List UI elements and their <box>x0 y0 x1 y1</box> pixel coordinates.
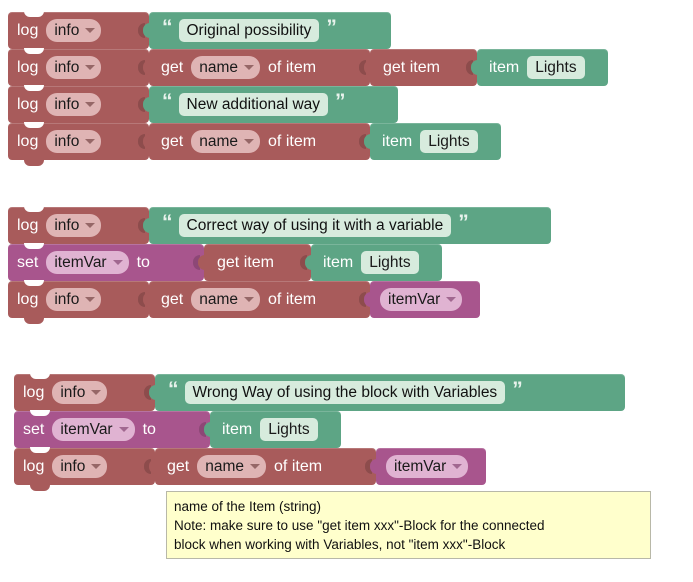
get-property-of-item-block[interactable]: get name of item <box>149 49 370 86</box>
log-block[interactable]: log info <box>8 281 149 318</box>
get-item-label: get item <box>204 254 279 272</box>
get-label: get <box>149 59 188 77</box>
text-string-block[interactable]: “ New additional way ” <box>149 86 398 123</box>
get-item-block[interactable]: get item <box>370 49 477 86</box>
log-label: log <box>8 59 43 77</box>
of-item-label: of item <box>263 133 321 151</box>
item-block[interactable]: item Lights <box>370 123 501 160</box>
property-dropdown[interactable]: name <box>191 56 260 79</box>
get-property-of-item-block[interactable]: get name of item <box>155 448 376 485</box>
get-property-of-item-block[interactable]: get name of item <box>149 123 370 160</box>
variable-getter-block[interactable]: itemVar <box>370 281 480 318</box>
log-level-value: info <box>60 458 85 476</box>
of-item-label: of item <box>269 458 327 476</box>
item-block[interactable]: item Lights <box>311 244 442 281</box>
log-block[interactable]: log info <box>8 207 149 244</box>
log-level-value: info <box>54 22 79 40</box>
item-name-field[interactable]: Lights <box>420 130 477 153</box>
item-label: item <box>311 254 358 272</box>
item-name-field[interactable]: Lights <box>361 251 418 274</box>
get-item-label: get item <box>370 59 445 77</box>
log-level-dropdown[interactable]: info <box>52 455 107 478</box>
text-string-block[interactable]: “ Original possibility ” <box>149 12 391 49</box>
get-label: get <box>155 458 194 476</box>
text-field[interactable]: Original possibility <box>179 19 320 42</box>
log-level-value: info <box>60 384 85 402</box>
chevron-down-icon <box>119 427 129 432</box>
quote-open-icon: “ <box>158 212 176 233</box>
log-level-dropdown[interactable]: info <box>46 19 101 42</box>
chevron-down-icon <box>85 139 95 144</box>
log-block[interactable]: log info <box>8 123 149 160</box>
quote-open-icon: “ <box>158 17 176 38</box>
chevron-down-icon <box>113 260 123 265</box>
log-block[interactable]: log info <box>14 448 155 485</box>
to-label: to <box>132 254 155 272</box>
variable-dropdown[interactable]: itemVar <box>52 418 134 441</box>
log-label: log <box>14 384 49 402</box>
item-name-field[interactable]: Lights <box>260 418 317 441</box>
set-label: set <box>8 254 43 272</box>
variable-getter-block[interactable]: itemVar <box>376 448 486 485</box>
chevron-down-icon <box>452 464 462 469</box>
variable-dropdown[interactable]: itemVar <box>46 251 128 274</box>
log-label: log <box>8 217 43 235</box>
item-block[interactable]: item Lights <box>477 49 608 86</box>
set-label: set <box>14 421 49 439</box>
log-label: log <box>14 458 49 476</box>
log-block[interactable]: log info <box>14 374 155 411</box>
get-item-block[interactable]: get item <box>204 244 311 281</box>
log-level-dropdown[interactable]: info <box>46 56 101 79</box>
item-label: item <box>210 421 257 439</box>
property-dropdown[interactable]: name <box>191 288 260 311</box>
chevron-down-icon <box>85 223 95 228</box>
property-value: name <box>205 458 244 476</box>
log-level-value: info <box>54 217 79 235</box>
log-level-dropdown[interactable]: info <box>46 288 101 311</box>
chevron-down-icon <box>250 464 260 469</box>
set-variable-block[interactable]: set itemVar to <box>8 244 204 281</box>
tooltip-line-1: name of the Item (string) <box>174 497 643 516</box>
chevron-down-icon <box>85 102 95 107</box>
quote-close-icon: ” <box>508 379 526 400</box>
log-label: log <box>8 22 43 40</box>
log-level-value: info <box>54 96 79 114</box>
item-block[interactable]: item Lights <box>210 411 341 448</box>
quote-open-icon: “ <box>158 91 176 112</box>
log-level-value: info <box>54 291 79 309</box>
chevron-down-icon <box>244 297 254 302</box>
log-block[interactable]: log info <box>8 86 149 123</box>
item-label: item <box>477 59 524 77</box>
item-name-field[interactable]: Lights <box>527 56 584 79</box>
to-label: to <box>138 421 161 439</box>
text-field[interactable]: New additional way <box>179 93 329 116</box>
log-label: log <box>8 133 43 151</box>
get-property-of-item-block[interactable]: get name of item <box>149 281 370 318</box>
quote-close-icon: ” <box>331 91 349 112</box>
property-value: name <box>199 291 238 309</box>
chevron-down-icon <box>91 464 101 469</box>
quote-close-icon: ” <box>322 17 340 38</box>
chevron-down-icon <box>85 65 95 70</box>
set-variable-block[interactable]: set itemVar to <box>14 411 210 448</box>
variable-dropdown[interactable]: itemVar <box>380 288 462 311</box>
property-dropdown[interactable]: name <box>197 455 266 478</box>
log-level-dropdown[interactable]: info <box>52 381 107 404</box>
quote-close-icon: ” <box>454 212 472 233</box>
property-value: name <box>199 133 238 151</box>
log-level-value: info <box>54 133 79 151</box>
quote-open-icon: “ <box>164 379 182 400</box>
blockly-workspace[interactable]: log info “ Original possibility ” log in… <box>0 0 693 582</box>
variable-dropdown[interactable]: itemVar <box>386 455 468 478</box>
text-string-block[interactable]: “ Correct way of using it with a variabl… <box>149 207 551 244</box>
item-label: item <box>370 133 417 151</box>
log-level-value: info <box>54 59 79 77</box>
log-level-dropdown[interactable]: info <box>46 214 101 237</box>
chevron-down-icon <box>91 390 101 395</box>
chevron-down-icon <box>244 65 254 70</box>
text-field[interactable]: Wrong Way of using the block with Variab… <box>185 381 506 404</box>
chevron-down-icon <box>244 139 254 144</box>
chevron-down-icon <box>85 297 95 302</box>
variable-value: itemVar <box>60 421 112 439</box>
of-item-label: of item <box>263 59 321 77</box>
log-block[interactable]: log info <box>8 49 149 86</box>
chevron-down-icon <box>85 28 95 33</box>
get-label: get <box>149 133 188 151</box>
get-label: get <box>149 291 188 309</box>
property-dropdown[interactable]: name <box>191 130 260 153</box>
log-level-dropdown[interactable]: info <box>46 93 101 116</box>
tooltip-line-2: Note: make sure to use "get item xxx"-Bl… <box>174 516 643 535</box>
text-field[interactable]: Correct way of using it with a variable <box>179 214 452 237</box>
log-level-dropdown[interactable]: info <box>46 130 101 153</box>
of-item-label: of item <box>263 291 321 309</box>
tooltip-line-3: block when working with Variables, not "… <box>174 535 643 554</box>
block-tooltip: name of the Item (string) Note: make sur… <box>166 491 651 559</box>
variable-value: itemVar <box>388 291 440 309</box>
chevron-down-icon <box>446 297 456 302</box>
property-value: name <box>199 59 238 77</box>
log-block[interactable]: log info <box>8 12 149 49</box>
log-label: log <box>8 96 43 114</box>
variable-value: itemVar <box>54 254 106 272</box>
variable-value: itemVar <box>394 458 446 476</box>
log-label: log <box>8 291 43 309</box>
text-string-block[interactable]: “ Wrong Way of using the block with Vari… <box>155 374 625 411</box>
